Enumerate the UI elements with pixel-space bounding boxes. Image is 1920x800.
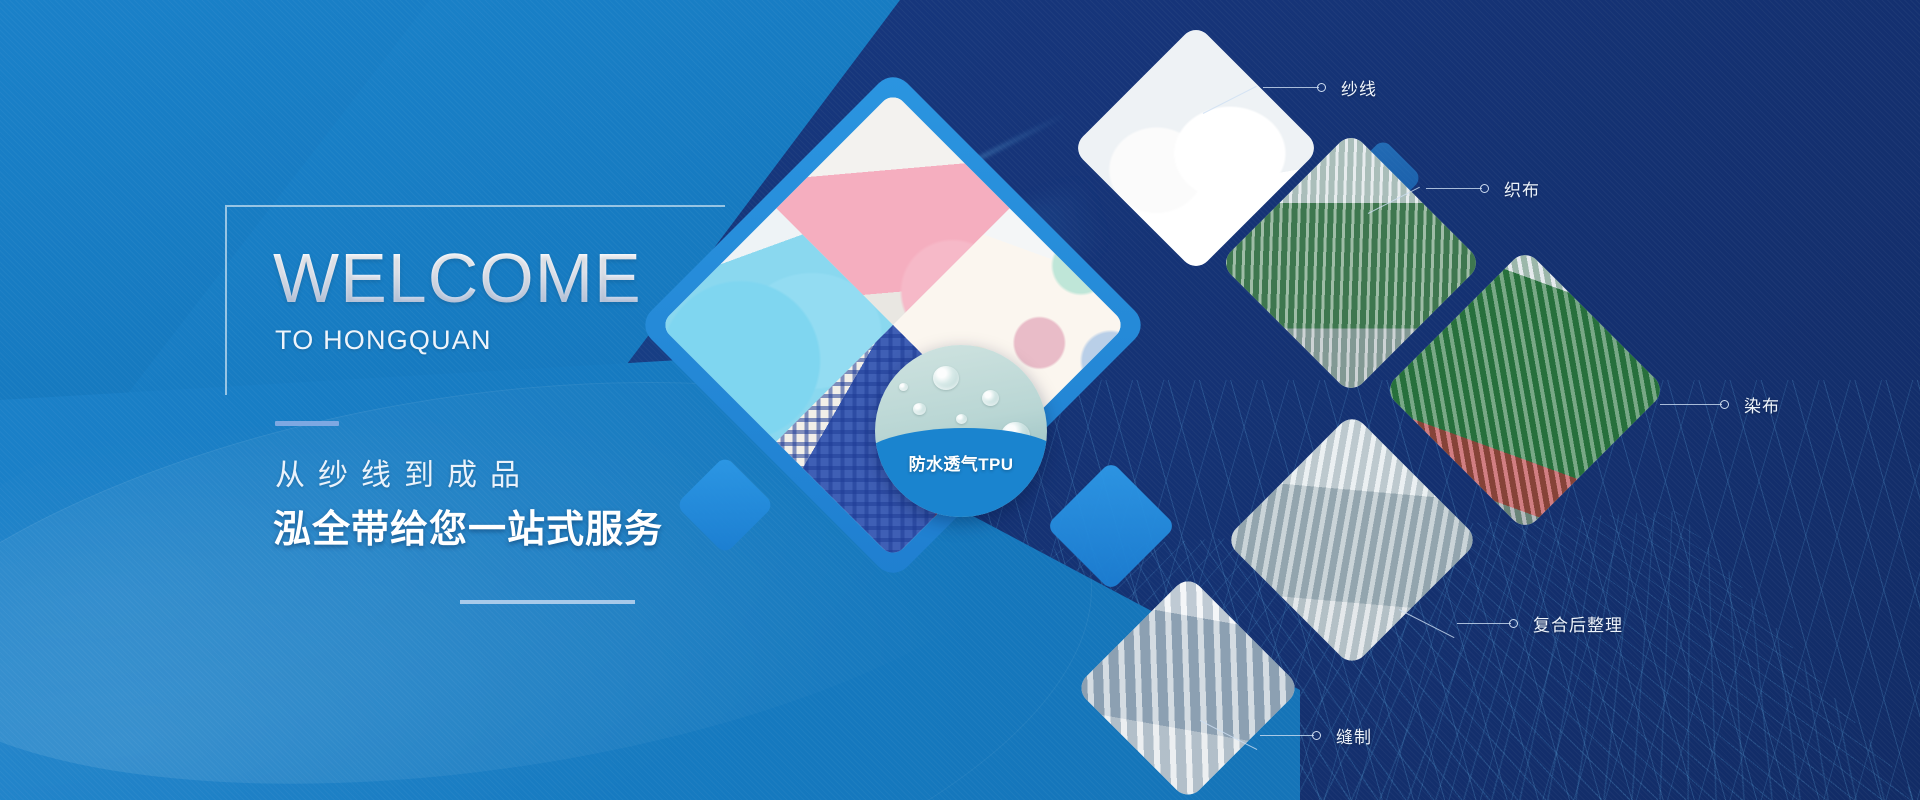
callout-label-dyeing: 染布 [1744,392,1780,417]
divider-rule-bottom [460,600,635,604]
callout-label-sewing: 缝制 [1336,723,1372,748]
callout-dot-icon [1312,731,1321,740]
callout-dot-icon [1720,400,1729,409]
tagline-chinese: 从纱线到成品 [275,450,533,494]
divider-rule [275,421,339,426]
page-title: WELCOME [273,243,642,313]
slogan-chinese: 泓全带给您一站式服务 [273,498,663,553]
callout-label-weaving: 织布 [1504,176,1540,201]
callout-dot-icon [1509,619,1518,628]
hero-banner: WELCOME TO HONGQUAN 从纱线到成品 泓全带给您一站式服务 防水… [0,0,1920,800]
tpu-badge-label: 防水透气TPU [875,450,1047,475]
callout-label-yarn: 纱线 [1341,75,1377,100]
callout-label-laminating: 复合后整理 [1533,611,1623,636]
page-subtitle: TO HONGQUAN [275,325,492,356]
tpu-badge: 防水透气TPU [875,345,1047,517]
callout-dot-icon [1317,83,1326,92]
callout-dot-icon [1480,184,1489,193]
